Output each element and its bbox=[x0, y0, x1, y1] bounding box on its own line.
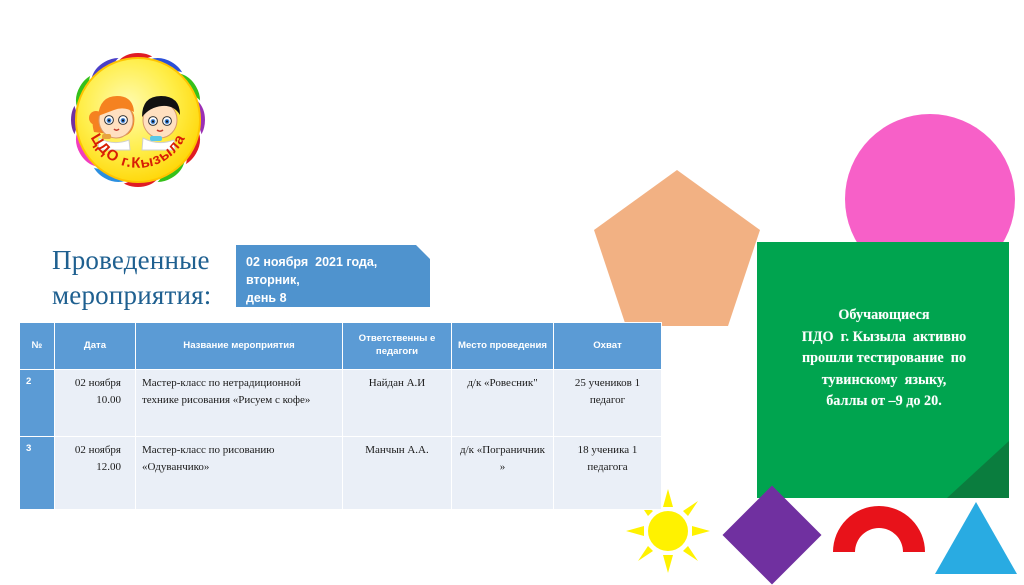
column-header-teacher: Ответственны е педагоги bbox=[343, 323, 452, 370]
column-header-reach: Охват bbox=[554, 323, 662, 370]
blue-triangle-shape bbox=[935, 502, 1017, 574]
table-header-row: № Дата Название мероприятия Ответственны… bbox=[20, 323, 662, 370]
date-line-2: вторник, bbox=[246, 271, 430, 289]
callout-line-4: тувинскому языку, bbox=[762, 370, 1006, 392]
table-row: 2 02 ноября 10.00 Мастер-класс по нетрад… bbox=[20, 370, 662, 437]
cell-place: д/к «Ровесник" bbox=[452, 370, 554, 437]
cell-reach: 18 ученика 1 педагога bbox=[554, 437, 662, 510]
date-line-1: 02 ноября 2021 года, bbox=[246, 253, 430, 271]
date-line-3: день 8 bbox=[246, 289, 430, 307]
events-table-head: № Дата Название мероприятия Ответственны… bbox=[20, 323, 662, 370]
organization-logo: ЦДО г.Кызыла bbox=[18, 8, 258, 233]
callout-line-3: прошли тестирование по bbox=[762, 348, 1006, 370]
slide-canvas: ЦДО г.Кызыла Проведенные мероприятия: 02… bbox=[0, 0, 1024, 576]
purple-diamond-shape bbox=[723, 486, 822, 585]
date-callout-box: 02 ноября 2021 года, вторник, день 8 bbox=[236, 245, 430, 307]
column-header-number: № bbox=[20, 323, 55, 370]
page-title: Проведенные мероприятия: bbox=[52, 243, 252, 312]
red-arch-shape bbox=[833, 504, 925, 552]
column-header-title: Название мероприятия bbox=[136, 323, 343, 370]
cell-date: 02 ноября 10.00 bbox=[55, 370, 136, 437]
cell-title: Мастер-класс по рисованию «Одуванчико» bbox=[136, 437, 343, 510]
green-fold-corner-icon bbox=[947, 441, 1009, 498]
events-table: № Дата Название мероприятия Ответственны… bbox=[19, 322, 662, 510]
events-table-body: 2 02 ноября 10.00 Мастер-класс по нетрад… bbox=[20, 370, 662, 510]
events-table-container: № Дата Название мероприятия Ответственны… bbox=[19, 322, 619, 510]
table-row: 3 02 ноября 12.00 Мастер-класс по рисова… bbox=[20, 437, 662, 510]
callout-line-5: баллы от –9 до 20. bbox=[762, 391, 1006, 413]
callout-line-2: ПДО г. Кызыла активно bbox=[762, 327, 1006, 349]
column-header-date: Дата bbox=[55, 323, 136, 370]
callout-line-1: Обучающиеся bbox=[762, 305, 1006, 327]
cell-number: 2 bbox=[20, 370, 55, 437]
pentagon-shape bbox=[592, 168, 762, 328]
cell-place: д/к «Пограничник » bbox=[452, 437, 554, 510]
cell-date: 02 ноября 12.00 bbox=[55, 437, 136, 510]
column-header-place: Место проведения bbox=[452, 323, 554, 370]
cell-title: Мастер-класс по нетрадиционной технике р… bbox=[136, 370, 343, 437]
cell-number: 3 bbox=[20, 437, 55, 510]
green-callout-text: Обучающиеся ПДО г. Кызыла активно прошли… bbox=[762, 305, 1006, 413]
cell-reach: 25 учеников 1 педагог bbox=[554, 370, 662, 437]
cell-teacher: Найдан А.И bbox=[343, 370, 452, 437]
cell-teacher: Манчын А.А. bbox=[343, 437, 452, 510]
